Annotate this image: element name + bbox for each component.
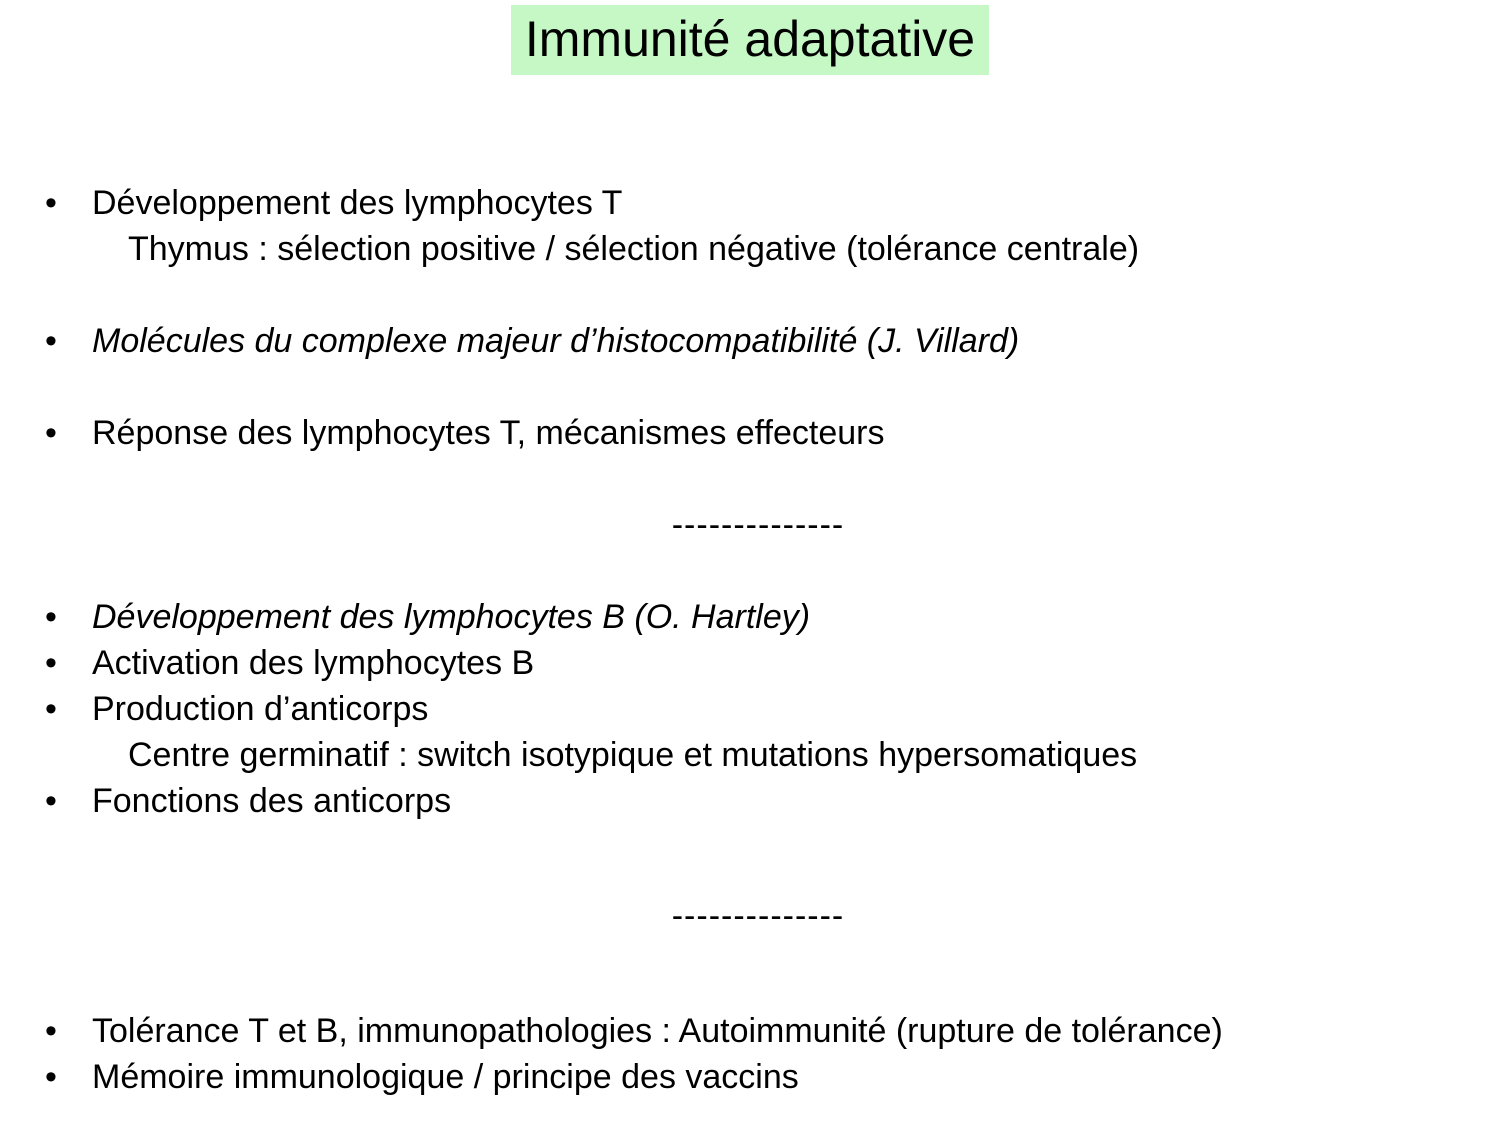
spacer xyxy=(0,870,1500,893)
list-item: • Molécules du complexe majeur d’histoco… xyxy=(0,318,1500,364)
list-item-label: Tolérance T et B, immunopathologies : Au… xyxy=(92,1008,1223,1054)
list-item-sub: Centre germinatif : switch isotypique et… xyxy=(0,732,1500,778)
divider-dashes: -------------- xyxy=(672,893,845,939)
bullet-icon: • xyxy=(45,318,65,364)
bullet-icon: • xyxy=(45,1008,65,1054)
spacer xyxy=(0,364,1500,410)
title-container: Immunité adaptative xyxy=(0,0,1500,90)
list-item-label: Développement des lymphocytes B (O. Hart… xyxy=(92,594,810,640)
spacer xyxy=(0,824,1500,870)
list-item: • Développement des lymphocytes T xyxy=(0,180,1500,226)
bullet-icon: • xyxy=(45,686,65,732)
bullet-icon: • xyxy=(45,410,65,456)
spacer xyxy=(0,939,1500,985)
list-item-sub: Thymus : sélection positive / sélection … xyxy=(0,226,1500,272)
list-item-label: Centre germinatif : switch isotypique et… xyxy=(128,732,1137,778)
section-divider-1: -------------- xyxy=(0,502,1500,548)
list-item: • Développement des lymphocytes B (O. Ha… xyxy=(0,594,1500,640)
bullet-icon: • xyxy=(45,1054,65,1100)
spacer xyxy=(0,548,1500,594)
page-title: Immunité adaptative xyxy=(511,5,989,75)
bullet-icon: • xyxy=(45,594,65,640)
list-item: • Production d’anticorps xyxy=(0,686,1500,732)
list-item: • Activation des lymphocytes B xyxy=(0,640,1500,686)
section-divider-2: -------------- xyxy=(0,893,1500,939)
divider-dashes: -------------- xyxy=(672,502,845,548)
list-item-label: Production d’anticorps xyxy=(92,686,428,732)
list-item-label: Activation des lymphocytes B xyxy=(92,640,534,686)
list-item: • Réponse des lymphocytes T, mécanismes … xyxy=(0,410,1500,456)
slide-canvas: Immunité adaptative • Développement des … xyxy=(0,0,1500,1125)
slide-body: • Développement des lymphocytes T Thymus… xyxy=(0,180,1500,1100)
bullet-icon: • xyxy=(45,180,65,226)
list-item: • Mémoire immunologique / principe des v… xyxy=(0,1054,1500,1100)
section-tolerance-memory: • Tolérance T et B, immunopathologies : … xyxy=(0,1008,1500,1100)
list-item-label: Développement des lymphocytes T xyxy=(92,180,622,226)
list-item-label: Thymus : sélection positive / sélection … xyxy=(128,226,1139,272)
list-item: • Fonctions des anticorps xyxy=(0,778,1500,824)
list-item-label: Réponse des lymphocytes T, mécanismes ef… xyxy=(92,410,884,456)
bullet-icon: • xyxy=(45,778,65,824)
list-item-label: Molécules du complexe majeur d’histocomp… xyxy=(92,318,1019,364)
section-t-cells: • Développement des lymphocytes T Thymus… xyxy=(0,180,1500,456)
list-item-label: Fonctions des anticorps xyxy=(92,778,451,824)
section-b-cells: • Développement des lymphocytes B (O. Ha… xyxy=(0,594,1500,824)
spacer xyxy=(0,272,1500,318)
spacer xyxy=(0,456,1500,502)
list-item-label: Mémoire immunologique / principe des vac… xyxy=(92,1054,799,1100)
list-item: • Tolérance T et B, immunopathologies : … xyxy=(0,1008,1500,1054)
bullet-icon: • xyxy=(45,640,65,686)
spacer xyxy=(0,985,1500,1008)
